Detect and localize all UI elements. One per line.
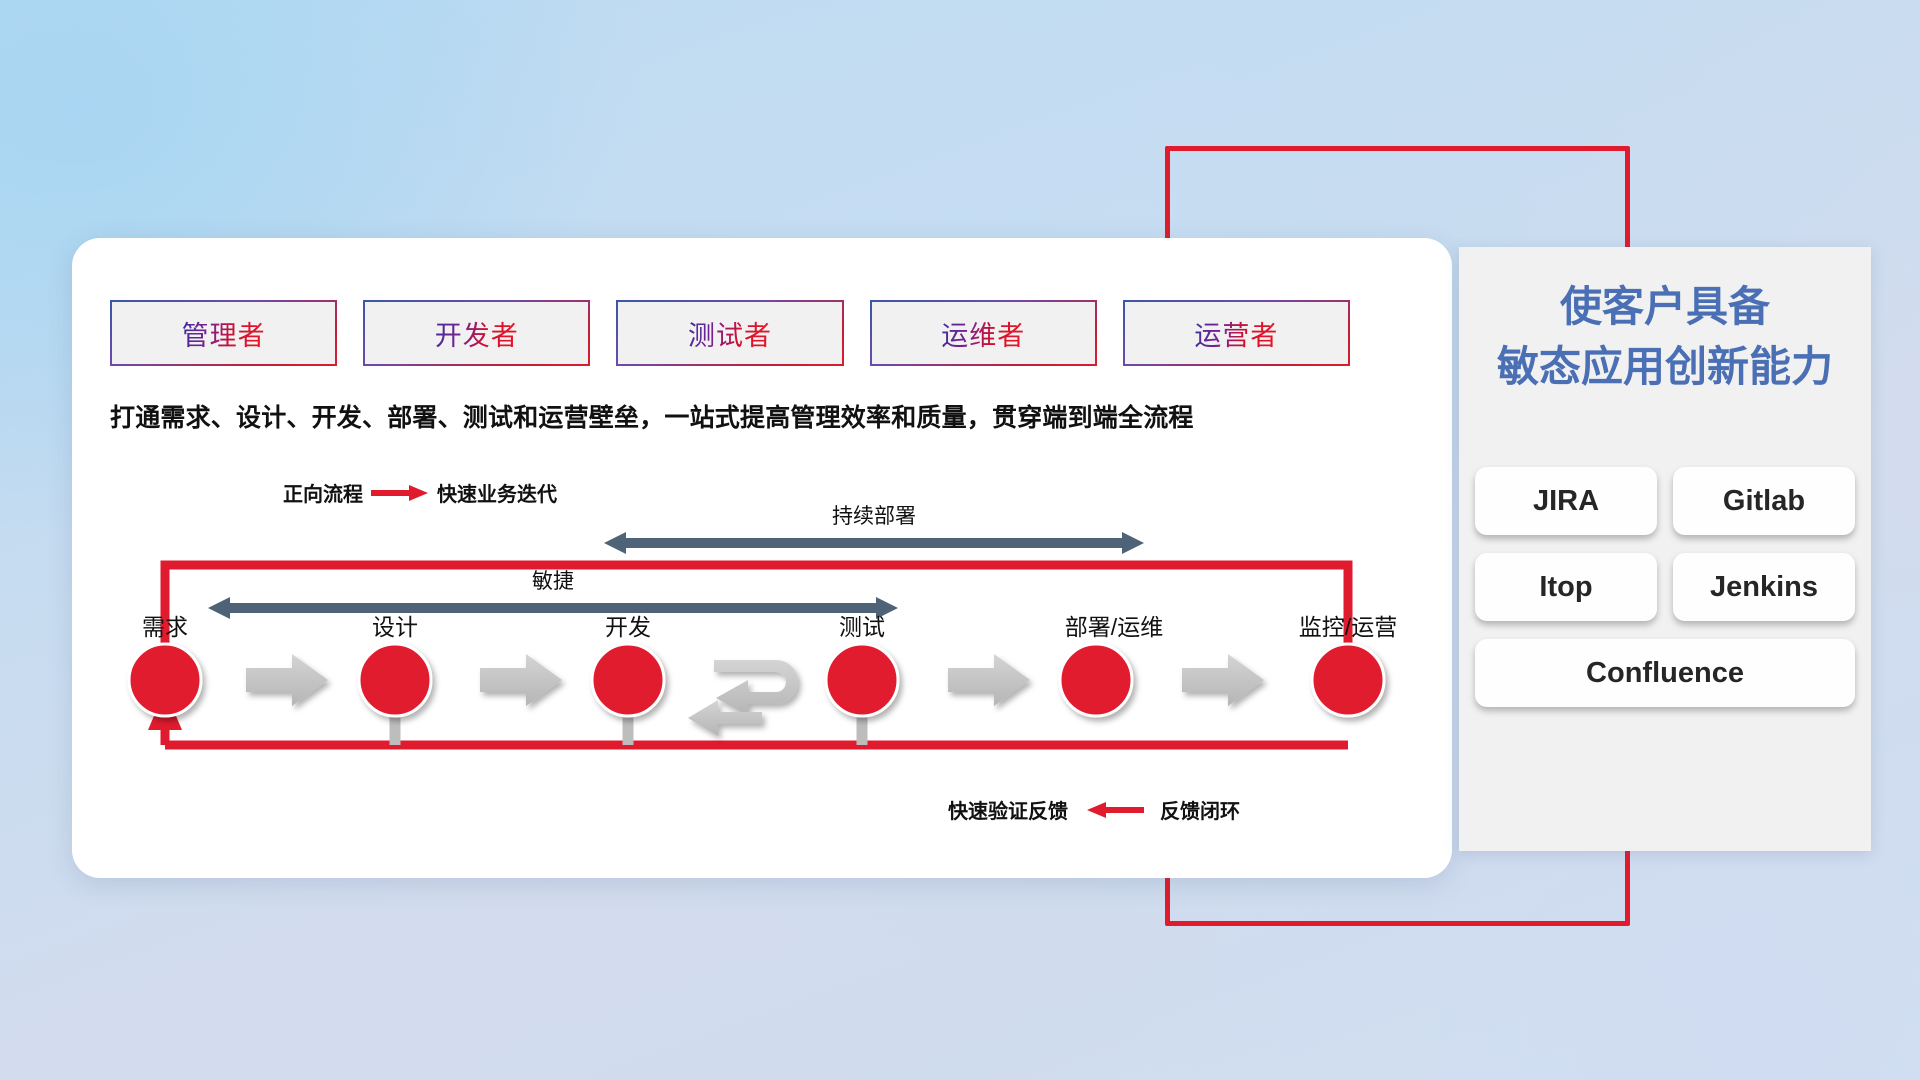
pipeline-node-label-develop: 开发: [605, 608, 651, 642]
role-box-operator[interactable]: 运营者: [1123, 300, 1350, 366]
double-arrow-icon: [208, 595, 898, 621]
description-text: 打通需求、设计、开发、部署、测试和运营壁垒，一站式提高管理效率和质量，贯穿端到端…: [110, 398, 1370, 434]
agile-label: 敏捷: [208, 565, 898, 595]
pipeline-node-label-design: 设计: [372, 608, 418, 642]
right-arrow-icon: [371, 483, 429, 503]
left-arrow-icon: [1084, 800, 1144, 820]
double-arrow-icon: [604, 530, 1144, 556]
continuous-deployment-span: 持续部署: [604, 500, 1144, 562]
pipeline-node-label-monitor-operate: 监控/运营: [1299, 608, 1397, 642]
role-label: 运营者: [1194, 314, 1278, 353]
feedback-flow-caption: 快速验证反馈 反馈闭环: [948, 795, 1240, 824]
slide-canvas: 管理者 开发者 测试者 运维者 运营者 打通需求、设计、开发、部署、测试和运营壁…: [0, 0, 1920, 1080]
feedback-flow-left-label: 快速验证反馈: [948, 795, 1068, 824]
role-label: 运维者: [941, 314, 1025, 353]
u-turn-loop-icon: [688, 660, 798, 736]
feedback-flow-right-label: 反馈闭环: [1160, 795, 1240, 824]
role-box-ops[interactable]: 运维者: [870, 300, 1097, 366]
agile-span: 敏捷: [208, 565, 898, 627]
forward-flow-right-label: 快速业务迭代: [437, 478, 557, 507]
role-box-developer[interactable]: 开发者: [363, 300, 590, 366]
role-label: 开发者: [435, 314, 519, 353]
pipeline-node-label-deploy-ops: 部署/运维: [1065, 608, 1163, 642]
forward-flow-caption: 正向流程 快速业务迭代: [283, 478, 557, 507]
role-box-tester[interactable]: 测试者: [616, 300, 843, 366]
forward-flow-left-label: 正向流程: [283, 478, 363, 507]
pipeline-node-label-test: 测试: [839, 608, 885, 642]
role-label: 测试者: [688, 314, 772, 353]
role-label: 管理者: [182, 314, 266, 353]
pipeline-node-label-requirement: 需求: [142, 608, 188, 642]
continuous-deployment-label: 持续部署: [604, 500, 1144, 530]
role-box-row: 管理者 开发者 测试者 运维者 运营者: [110, 300, 1350, 366]
role-box-manager[interactable]: 管理者: [110, 300, 337, 366]
